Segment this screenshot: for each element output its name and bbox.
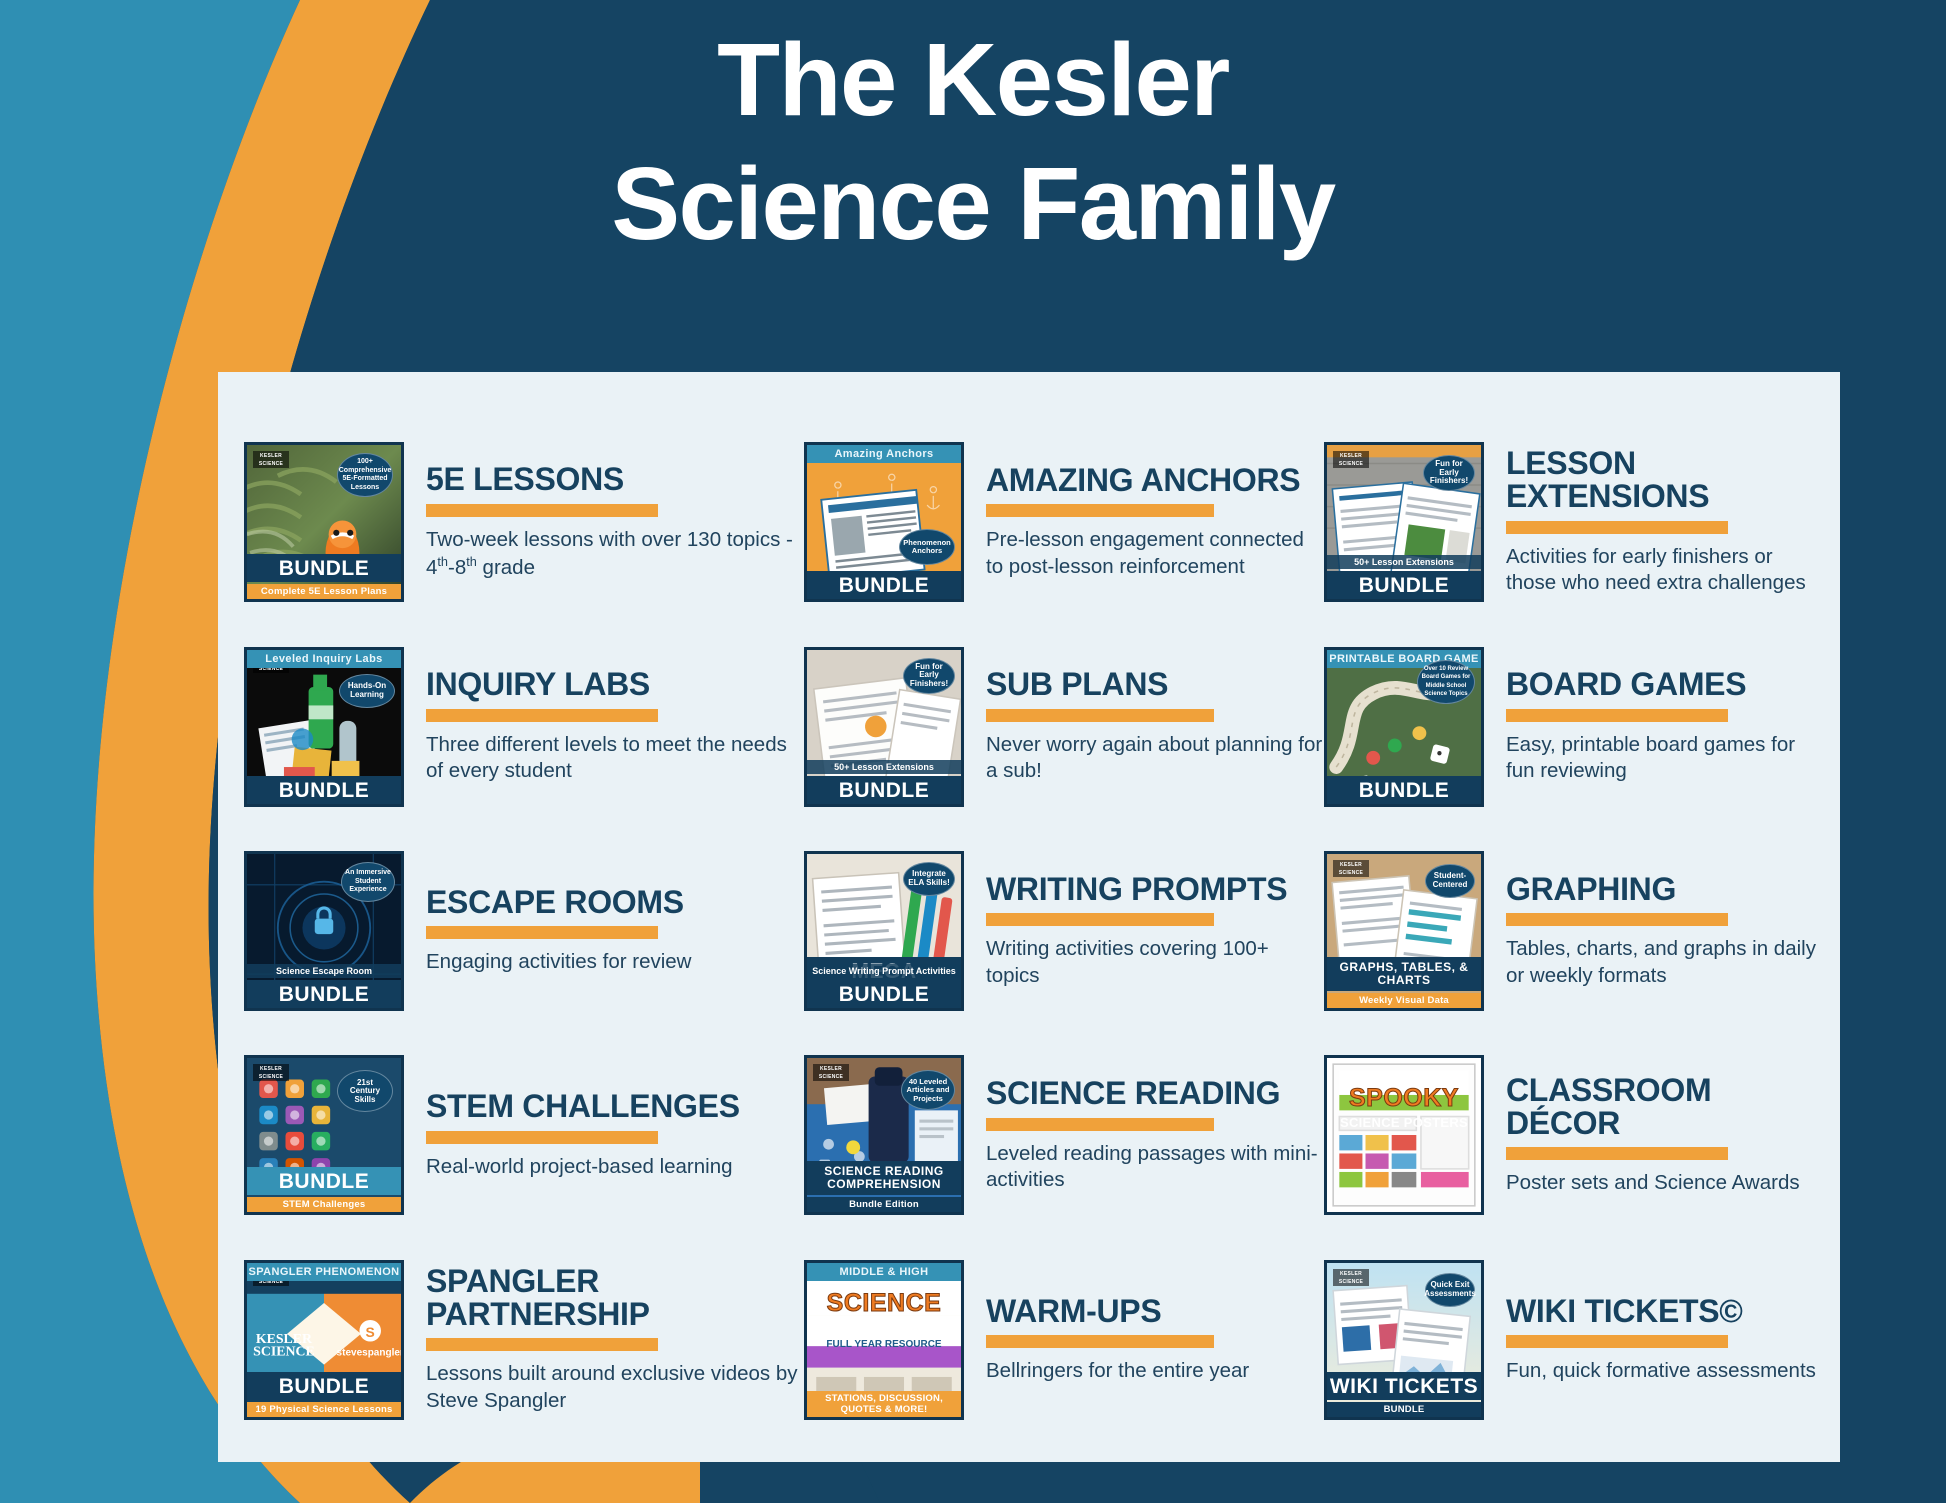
product-title-writing-prompts: WRITING PROMPTS [986, 873, 1324, 906]
thumbnail-mid-label: Science Writing Prompt Activities [807, 964, 961, 978]
thumbnail-bundle-label: BUNDLE [807, 571, 961, 599]
product-underline-board-games [1506, 709, 1728, 722]
product-text-writing-prompts: WRITING PROMPTS Writing activities cover… [964, 873, 1324, 990]
product-underline-classroom-decor [1506, 1147, 1728, 1160]
thumbnail-badge: Over 10 Review Board Games for Middle Sc… [1417, 660, 1475, 704]
kesler-science-logo: KESLERSCIENCE [253, 1064, 289, 1081]
thumbnail-top-label: Leveled Inquiry Labs [247, 650, 401, 668]
product-title-lesson-extensions: LESSON EXTENSIONS [1506, 447, 1824, 512]
thumbnail-sub-label: BUNDLE [1327, 1402, 1481, 1417]
product-description-science-reading: Leveled reading passages with mini-activ… [986, 1141, 1324, 1194]
product-card-spangler-partnership[interactable]: KESLER SCIENCE S stevespangler KESLERSCI… [244, 1238, 804, 1442]
product-card-stem-challenges[interactable]: KESLERSCIENCE21st Century SkillsBUNDLEST… [244, 1033, 804, 1237]
thumbnail-sub-label: Weekly Visual Data [1327, 993, 1481, 1008]
product-underline-inquiry-labs [426, 709, 658, 722]
product-card-writing-prompts[interactable]: Integrate ELA Skills!MEGA BUNDLEScience … [804, 829, 1324, 1033]
product-thumbnail-science-reading[interactable]: KESLERSCIENCE40 Leveled Articles and Pro… [804, 1055, 964, 1215]
product-panel: KESLERSCIENCE100+ Comprehensive 5E-Forma… [218, 372, 1840, 1462]
product-text-stem-challenges: STEM CHALLENGES Real-world project-based… [404, 1090, 804, 1180]
thumbnail-sub-label: STEM Challenges [247, 1197, 401, 1212]
product-card-graphing[interactable]: KESLERSCIENCEStudent-CenteredGRAPHS, TAB… [1324, 829, 1824, 1033]
product-description-stem-challenges: Real-world project-based learning [426, 1154, 804, 1181]
product-card-5e-lessons[interactable]: KESLERSCIENCE100+ Comprehensive 5E-Forma… [244, 420, 804, 624]
product-description-warm-ups: Bellringers for the entire year [986, 1358, 1324, 1385]
thumbnail-badge: Integrate ELA Skills! [903, 862, 955, 896]
product-text-wiki-tickets: WIKI TICKETS© Fun, quick formative asses… [1484, 1295, 1824, 1385]
product-description-lesson-extensions: Activities for early finishers or those … [1506, 544, 1824, 597]
kesler-science-logo: KESLERSCIENCE [1333, 451, 1369, 468]
product-title-escape-rooms: ESCAPE ROOMS [426, 886, 804, 919]
product-description-spangler-partnership: Lessons built around exclusive videos by… [426, 1361, 804, 1414]
product-text-board-games: BOARD GAMES Easy, printable board games … [1484, 668, 1824, 785]
product-title-warm-ups: WARM-UPS [986, 1295, 1324, 1328]
thumbnail-badge: Fun for Early Finishers! [903, 658, 955, 694]
product-description-5e-lessons: Two-week lessons with over 130 topics - … [426, 527, 804, 581]
thumbnail-mid-label: Science Escape Room [247, 964, 401, 978]
product-thumbnail-spangler-partnership[interactable]: KESLER SCIENCE S stevespangler KESLERSCI… [244, 1260, 404, 1420]
product-description-amazing-anchors: Pre-lesson engagement connected to post-… [986, 527, 1324, 580]
product-underline-escape-rooms [426, 926, 658, 939]
thumbnail-badge: Hands-On Learning [339, 674, 395, 708]
product-title-inquiry-labs: INQUIRY LABS [426, 668, 804, 701]
thumbnail-headline-1: SCIENCE [807, 1289, 961, 1318]
thumbnail-bundle-label: BUNDLE [247, 980, 401, 1008]
product-title-5e-lessons: 5E LESSONS [426, 463, 804, 496]
product-text-warm-ups: WARM-UPS Bellringers for the entire year [964, 1295, 1324, 1385]
product-thumbnail-wiki-tickets[interactable]: KESLERSCIENCEQuick Exit AssessmentsWIKI … [1324, 1260, 1484, 1420]
thumbnail-bundle-label: BUNDLE [247, 554, 401, 582]
product-description-sub-plans: Never worry again about planning for a s… [986, 732, 1324, 785]
product-description-classroom-decor: Poster sets and Science Awards [1506, 1170, 1824, 1197]
thumbnail-sub-label: Complete 5E Lesson Plans [247, 584, 401, 599]
product-thumbnail-amazing-anchors[interactable]: Amazing AnchorsPhenomenon AnchorsBUNDLE [804, 442, 964, 602]
thumbnail-top-label: Amazing Anchors [807, 445, 961, 463]
thumbnail-badge: 100+ Comprehensive 5E-Formatted Lessons [337, 453, 393, 497]
thumbnail-headline-3: FULL YEAR RESOURCE [807, 1339, 961, 1350]
product-title-sub-plans: SUB PLANS [986, 668, 1324, 701]
product-card-classroom-decor[interactable]: SPOOKYSCIENCE POSTERS CLASSROOM DÉCOR Po… [1324, 1033, 1824, 1237]
product-description-writing-prompts: Writing activities covering 100+ topics [986, 936, 1324, 989]
product-text-lesson-extensions: LESSON EXTENSIONS Activities for early f… [1484, 447, 1824, 597]
product-card-board-games[interactable]: PRINTABLE BOARD GAMEOver 10 Review Board… [1324, 624, 1824, 828]
product-underline-spangler-partnership [426, 1338, 658, 1351]
kesler-science-logo: KESLERSCIENCE [253, 451, 289, 468]
product-card-wiki-tickets[interactable]: KESLERSCIENCEQuick Exit AssessmentsWIKI … [1324, 1238, 1824, 1442]
product-underline-wiki-tickets [1506, 1335, 1728, 1348]
thumbnail-mid-label: 50+ Lesson Extensions [807, 760, 961, 774]
thumbnail-top-label: MIDDLE & HIGH [807, 1263, 961, 1281]
product-thumbnail-classroom-decor[interactable]: SPOOKYSCIENCE POSTERS [1324, 1055, 1484, 1215]
product-thumbnail-stem-challenges[interactable]: KESLERSCIENCE21st Century SkillsBUNDLEST… [244, 1055, 404, 1215]
thumbnail-bundle-label: SCIENCE READING COMPREHENSION [807, 1161, 961, 1195]
product-card-escape-rooms[interactable]: An Immersive Student ExperienceBUNDLESci… [244, 829, 804, 1033]
thumbnail-badge: Fun for Early Finishers! [1423, 455, 1475, 491]
thumbnail-badge: Student-Centered [1425, 864, 1475, 898]
thumbnail-sub-label: 19 Physical Science Lessons [247, 1402, 401, 1417]
product-text-spangler-partnership: SPANGLER PARTNERSHIP Lessons built aroun… [404, 1265, 804, 1415]
product-card-inquiry-labs[interactable]: KESLERSCIENCELeveled Inquiry LabsHands-O… [244, 624, 804, 828]
product-description-graphing: Tables, charts, and graphs in daily or w… [1506, 936, 1824, 989]
thumbnail-bundle-label: BUNDLE [247, 776, 401, 804]
product-grid: KESLERSCIENCE100+ Comprehensive 5E-Forma… [218, 372, 1840, 1462]
product-underline-lesson-extensions [1506, 521, 1728, 534]
product-title-spangler-partnership: SPANGLER PARTNERSHIP [426, 1265, 804, 1330]
thumbnail-badge: Phenomenon Anchors [899, 529, 955, 565]
svg-text:S: S [366, 1324, 375, 1340]
product-text-classroom-decor: CLASSROOM DÉCOR Poster sets and Science … [1484, 1074, 1824, 1197]
product-title-classroom-decor: CLASSROOM DÉCOR [1506, 1074, 1824, 1139]
product-card-lesson-extensions[interactable]: KESLERSCIENCEFun for Early Finishers!BUN… [1324, 420, 1824, 624]
thumbnail-bundle-label: BUNDLE [807, 776, 961, 804]
product-underline-5e-lessons [426, 504, 658, 517]
product-underline-warm-ups [986, 1335, 1214, 1348]
thumbnail-bundle-label: BUNDLE [1327, 776, 1481, 804]
product-text-escape-rooms: ESCAPE ROOMS Engaging activities for rev… [404, 886, 804, 976]
product-thumbnail-lesson-extensions[interactable]: KESLERSCIENCEFun for Early Finishers!BUN… [1324, 442, 1484, 602]
product-text-inquiry-labs: INQUIRY LABS Three different levels to m… [404, 668, 804, 785]
product-underline-amazing-anchors [986, 504, 1214, 517]
product-card-amazing-anchors[interactable]: Amazing AnchorsPhenomenon AnchorsBUNDLE … [804, 420, 1324, 624]
product-underline-stem-challenges [426, 1131, 658, 1144]
kesler-science-logo: KESLERSCIENCE [813, 1064, 849, 1081]
thumbnail-bundle-label: WIKI TICKETS [1327, 1372, 1481, 1400]
kesler-science-logo: KESLERSCIENCE [1333, 860, 1369, 877]
product-card-science-reading[interactable]: KESLERSCIENCE40 Leveled Articles and Pro… [804, 1033, 1324, 1237]
thumbnail-headline-1: SPOOKY [1327, 1084, 1481, 1113]
product-title-board-games: BOARD GAMES [1506, 668, 1824, 701]
thumbnail-bundle-label: BUNDLE [247, 1372, 401, 1400]
thumbnail-bundle-label: GRAPHS, TABLES, & CHARTS [1327, 957, 1481, 991]
thumbnail-bundle-label: BUNDLE [1327, 571, 1481, 599]
thumbnail-sub-label: Bundle Edition [807, 1197, 961, 1212]
product-underline-sub-plans [986, 709, 1214, 722]
product-underline-science-reading [986, 1118, 1214, 1131]
thumbnail-sub-label: STATIONS, DISCUSSION, QUOTES & MORE! [807, 1391, 961, 1417]
product-underline-writing-prompts [986, 913, 1214, 926]
thumbnail-headline-2: SCIENCE POSTERS [1327, 1115, 1481, 1130]
product-thumbnail-sub-plans[interactable]: Fun for Early Finishers!BUNDLE50+ Lesson… [804, 647, 964, 807]
product-description-escape-rooms: Engaging activities for review [426, 949, 804, 976]
product-thumbnail-writing-prompts[interactable]: Integrate ELA Skills!MEGA BUNDLEScience … [804, 851, 964, 1011]
product-underline-graphing [1506, 913, 1728, 926]
thumbnail-badge: An Immersive Student Experience [341, 862, 395, 902]
svg-text:stevespangler: stevespangler [337, 1347, 401, 1358]
product-title-graphing: GRAPHING [1506, 873, 1824, 906]
product-text-sub-plans: SUB PLANS Never worry again about planni… [964, 668, 1324, 785]
product-card-warm-ups[interactable]: MIDDLE & HIGHSCIENCEBELL-RINGERSFULL YEA… [804, 1238, 1324, 1442]
kesler-science-logo: KESLERSCIENCE [1333, 1269, 1369, 1286]
product-thumbnail-escape-rooms[interactable]: An Immersive Student ExperienceBUNDLESci… [244, 851, 404, 1011]
product-description-board-games: Easy, printable board games for fun revi… [1506, 732, 1824, 785]
product-text-amazing-anchors: AMAZING ANCHORS Pre-lesson engagement co… [964, 464, 1324, 581]
product-title-wiki-tickets: WIKI TICKETS© [1506, 1295, 1824, 1328]
thumbnail-mid-label: 50+ Lesson Extensions [1327, 555, 1481, 569]
product-text-5e-lessons: 5E LESSONS Two-week lessons with over 13… [404, 463, 804, 581]
product-title-stem-challenges: STEM CHALLENGES [426, 1090, 804, 1123]
product-thumbnail-inquiry-labs[interactable]: KESLERSCIENCELeveled Inquiry LabsHands-O… [244, 647, 404, 807]
product-thumbnail-warm-ups[interactable]: MIDDLE & HIGHSCIENCEBELL-RINGERSFULL YEA… [804, 1260, 964, 1420]
product-thumbnail-5e-lessons[interactable]: KESLERSCIENCE100+ Comprehensive 5E-Forma… [244, 442, 404, 602]
thumbnail-badge: Quick Exit Assessments [1425, 1273, 1475, 1307]
thumbnail-bundle-label: BUNDLE [247, 1167, 401, 1195]
product-description-inquiry-labs: Three different levels to meet the needs… [426, 732, 804, 785]
thumbnail-top-label: SPANGLER PHENOMENON [247, 1263, 401, 1281]
product-thumbnail-board-games[interactable]: PRINTABLE BOARD GAMEOver 10 Review Board… [1324, 647, 1484, 807]
product-text-science-reading: SCIENCE READING Leveled reading passages… [964, 1077, 1324, 1194]
product-title-amazing-anchors: AMAZING ANCHORS [986, 464, 1324, 497]
thumbnail-artwork [1327, 1058, 1481, 1212]
svg-text:SCIENCE: SCIENCE [253, 1343, 315, 1358]
product-text-graphing: GRAPHING Tables, charts, and graphs in d… [1484, 873, 1824, 990]
product-title-science-reading: SCIENCE READING [986, 1077, 1324, 1110]
thumbnail-headline-2: BELL-RINGERS [807, 1320, 961, 1335]
product-thumbnail-graphing[interactable]: KESLERSCIENCEStudent-CenteredGRAPHS, TAB… [1324, 851, 1484, 1011]
product-card-sub-plans[interactable]: Fun for Early Finishers!BUNDLE50+ Lesson… [804, 624, 1324, 828]
product-description-wiki-tickets: Fun, quick formative assessments [1506, 1358, 1824, 1385]
